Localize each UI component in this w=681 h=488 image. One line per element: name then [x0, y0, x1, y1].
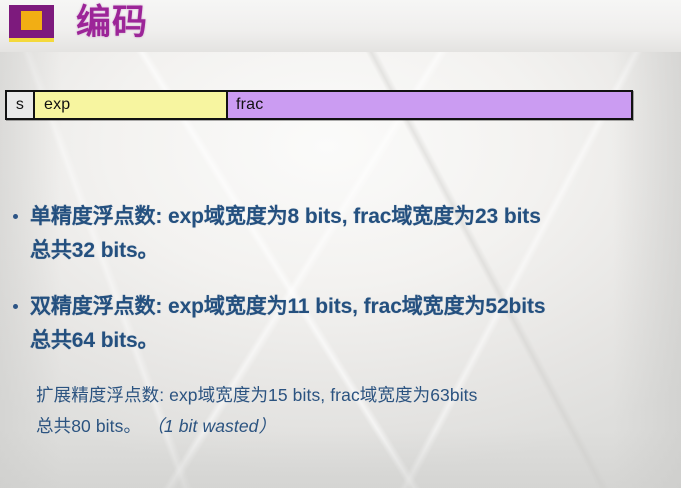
bitfield-cell-frac: frac — [228, 92, 631, 118]
bullet-double-precision-line1: 双精度浮点数: exp域宽度为11 bits, frac域宽度为52bits — [30, 290, 681, 324]
bullet-dot-icon — [13, 214, 18, 219]
bullet-double-precision: 双精度浮点数: exp域宽度为11 bits, frac域宽度为52bits 总… — [0, 290, 681, 358]
bullet-single-precision-line2: 总共32 bits。 — [30, 234, 681, 268]
slide-body: 单精度浮点数: exp域宽度为8 bits, frac域宽度为23 bits 总… — [0, 200, 681, 442]
page-title: 编码 — [76, 1, 148, 45]
logo-underline-bar — [9, 38, 54, 42]
bitfield-cell-exp: exp — [35, 92, 228, 118]
note-extended-precision-line2: 总共80 bits。（1 bit wasted） — [36, 411, 681, 442]
purple-square-logo-icon — [9, 5, 54, 38]
bullet-double-precision-line2: 总共64 bits。 — [30, 324, 681, 358]
bullet-dot-icon — [13, 304, 18, 309]
note-extended-precision: 扩展精度浮点数: exp域宽度为15 bits, frac域宽度为63bits … — [0, 380, 681, 442]
note-total-bits: 总共80 bits。 — [36, 416, 141, 436]
bullet-single-precision: 单精度浮点数: exp域宽度为8 bits, frac域宽度为23 bits 总… — [0, 200, 681, 268]
note-extended-precision-line1: 扩展精度浮点数: exp域宽度为15 bits, frac域宽度为63bits — [36, 380, 681, 411]
note-wasted-bit: （1 bit wasted） — [141, 416, 276, 436]
gold-square-icon — [21, 11, 42, 30]
bullet-single-precision-line1: 单精度浮点数: exp域宽度为8 bits, frac域宽度为23 bits — [30, 200, 681, 234]
slide-canvas: 编码 s exp frac 单精度浮点数: exp域宽度为8 bits, fra… — [0, 0, 681, 488]
slide-header: 编码 — [0, 0, 681, 52]
bitfield-cell-sign: s — [7, 92, 35, 118]
float-bitfield-diagram: s exp frac — [5, 90, 633, 120]
